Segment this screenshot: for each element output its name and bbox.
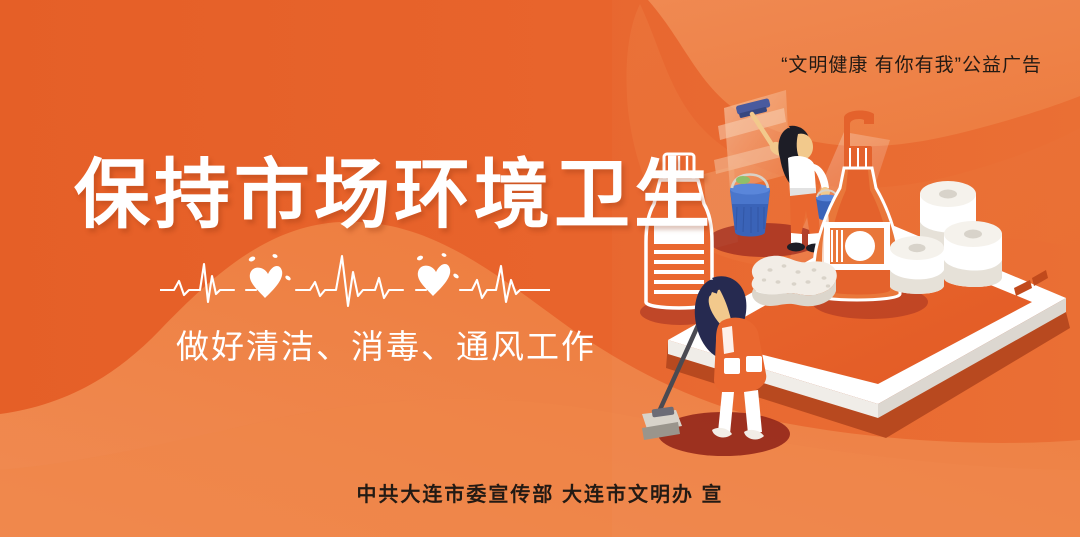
heart-shape <box>418 264 450 296</box>
cleaning-sponge <box>752 256 837 306</box>
campaign-tagline: “文明健康 有你有我”公益广告 <box>781 50 1042 77</box>
toilet-paper-roll <box>890 236 944 294</box>
page-subtitle: 做好清洁、消毒、通风工作 <box>176 320 596 368</box>
footer-credit: 中共大连市委宣传部 大连市文明办 宣 <box>0 478 1080 507</box>
page-title: 保持市场环境卫生 <box>74 158 714 234</box>
poster-canvas: “文明健康 有你有我”公益广告 保持市场环境卫生 做好清洁、消毒、通风工作 <box>0 0 1080 537</box>
heartbeat-ecg-icon <box>160 250 550 310</box>
heart-shape <box>250 266 282 298</box>
toilet-paper-rolls <box>890 181 1002 294</box>
cleaning-scene-illustration <box>638 62 1080 474</box>
toilet-paper-roll <box>944 221 1002 287</box>
